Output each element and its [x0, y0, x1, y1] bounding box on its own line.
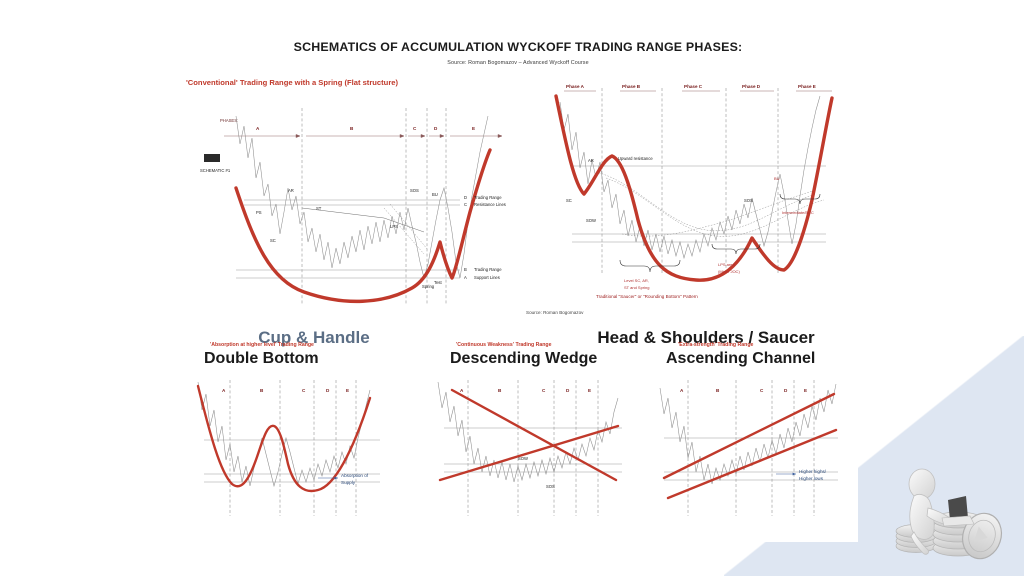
- annot-sos: SOS: [744, 198, 753, 203]
- svg-text:SC: SC: [270, 238, 276, 243]
- chart-double-bottom: A B C D E Absorption of Supply: [184, 368, 402, 528]
- phase-c-label: Phase C: [684, 84, 703, 89]
- annot-sos-wedge: SOS: [546, 484, 555, 489]
- page-title: SCHEMATICS OF ACCUMULATION WYCKOFF TRADI…: [178, 40, 858, 54]
- annot-intermediate-buc: Intermediate/BUC: [782, 210, 814, 215]
- panel-double-bottom: 'Absorption at higher level' Trading Ran…: [184, 342, 402, 532]
- annot-ar: AR: [588, 158, 594, 163]
- footer-caption-saucer: Traditional "Saucer" or "Rounding Bottom…: [596, 294, 698, 299]
- caption-descending-wedge: Descending Wedge: [450, 350, 650, 368]
- panel-cup-and-handle: 'Conventional' Trading Range with a Spri…: [184, 78, 514, 328]
- svg-text:D: D: [784, 388, 788, 393]
- caption-ascending-channel: Ascending Channel: [666, 350, 866, 368]
- svg-text:A: A: [464, 275, 467, 280]
- svg-text:AR: AR: [288, 188, 294, 193]
- annot-higher-lows: Higher lows: [799, 476, 824, 481]
- label-tr-support-line1: Trading Range: [474, 267, 502, 272]
- caption-double-bottom: Double Bottom: [204, 350, 394, 368]
- svg-text:D: D: [566, 388, 570, 393]
- svg-text:C: C: [542, 388, 546, 393]
- svg-text:C: C: [302, 388, 306, 393]
- svg-text:C: C: [464, 202, 467, 207]
- svg-text:D: D: [434, 126, 438, 131]
- svg-text:A: A: [460, 388, 464, 393]
- svg-text:C: C: [413, 126, 417, 131]
- slide-canvas: SCHEMATICS OF ACCUMULATION WYCKOFF TRADI…: [178, 30, 858, 542]
- chart-ascending-channel: A B C D E Higher highs/ Higher lows: [648, 368, 858, 528]
- svg-text:B: B: [716, 388, 720, 393]
- annot-bu: BU: [774, 176, 780, 181]
- chart-cup-and-handle: PHASES: A B C D E SCHEMATIC #1: [184, 92, 514, 322]
- panel-header-descending-wedge: 'Continuous Weakness' Trading Range: [456, 342, 551, 348]
- svg-text:ST: ST: [316, 206, 322, 211]
- svg-text:Spring: Spring: [422, 284, 435, 289]
- svg-text:LPS: LPS: [390, 224, 398, 229]
- annot-supply: Supply: [341, 480, 356, 485]
- annot-absorption-of: Absorption of: [341, 473, 369, 478]
- schematic-label: SCHEMATIC #1: [200, 168, 231, 173]
- svg-text:Test: Test: [434, 280, 443, 285]
- label-tr-support-line2: Support Lines: [474, 275, 500, 280]
- svg-text:D: D: [326, 388, 330, 393]
- annot-level-sc-ar: Level SC, AR,: [624, 278, 649, 283]
- svg-text:C: C: [760, 388, 764, 393]
- source-attribution-top: Source: Roman Bogomazov – Advanced Wycko…: [178, 60, 858, 66]
- svg-text:E: E: [472, 126, 475, 131]
- annot-st-and-spring: ST and Spring: [624, 285, 650, 290]
- svg-text:D: D: [464, 195, 467, 200]
- source-attribution-saucer: Source: Roman Bogomazov: [526, 310, 583, 315]
- decorative-figure-person-with-laptop: [870, 448, 1010, 568]
- annot-minor-joc: (Minor JOC): [718, 269, 740, 274]
- label-tr-resistance-line1: Trading Range: [474, 195, 502, 200]
- svg-text:E: E: [346, 388, 349, 393]
- phase-b-label: Phase B: [622, 84, 641, 89]
- panel-head-and-shoulders-saucer: Phase A Phase B Phase C Phase D Phase E: [526, 74, 856, 329]
- svg-text:B: B: [260, 388, 264, 393]
- label-tr-resistance-line2: Resistance Lines: [474, 202, 506, 207]
- annot-upward-resistance: Upward resistance: [618, 156, 653, 161]
- panel-ascending-channel: 'Extra-strength' Trading Range Ascending…: [648, 342, 858, 532]
- annot-sc: SC: [566, 198, 572, 203]
- svg-text:E: E: [804, 388, 807, 393]
- svg-text:B: B: [464, 267, 467, 272]
- chart-descending-wedge: A B C D E SOW SOS: [426, 368, 644, 528]
- svg-text:B: B: [350, 126, 354, 131]
- svg-text:PS: PS: [256, 210, 262, 215]
- svg-text:A: A: [680, 388, 684, 393]
- svg-text:BU: BU: [432, 192, 438, 197]
- panel-header-ascending-channel: 'Extra-strength' Trading Range: [678, 342, 753, 348]
- annot-lps-area: LPS area: [718, 262, 735, 267]
- panel-header-cup-and-handle: 'Conventional' Trading Range with a Spri…: [186, 78, 398, 87]
- phases-label: PHASES:: [220, 118, 238, 123]
- annot-higher-highs: Higher highs/: [799, 469, 827, 474]
- svg-text:E: E: [588, 388, 591, 393]
- phase-a-label: Phase A: [566, 84, 585, 89]
- annot-sow: SOW: [586, 218, 596, 223]
- chart-head-and-shoulders-saucer: Phase A Phase B Phase C Phase D Phase E: [526, 74, 856, 304]
- phase-d-label: Phase D: [742, 84, 761, 89]
- annot-sow-wedge: SOW: [518, 456, 528, 461]
- svg-text:B: B: [498, 388, 502, 393]
- panel-header-double-bottom: 'Absorption at higher level' Trading Ran…: [210, 342, 314, 348]
- phase-e-label: Phase E: [798, 84, 816, 89]
- svg-text:A: A: [256, 126, 260, 131]
- panel-descending-wedge: 'Continuous Weakness' Trading Range Desc…: [426, 342, 644, 532]
- svg-text:SOS: SOS: [410, 188, 419, 193]
- svg-text:A: A: [222, 388, 226, 393]
